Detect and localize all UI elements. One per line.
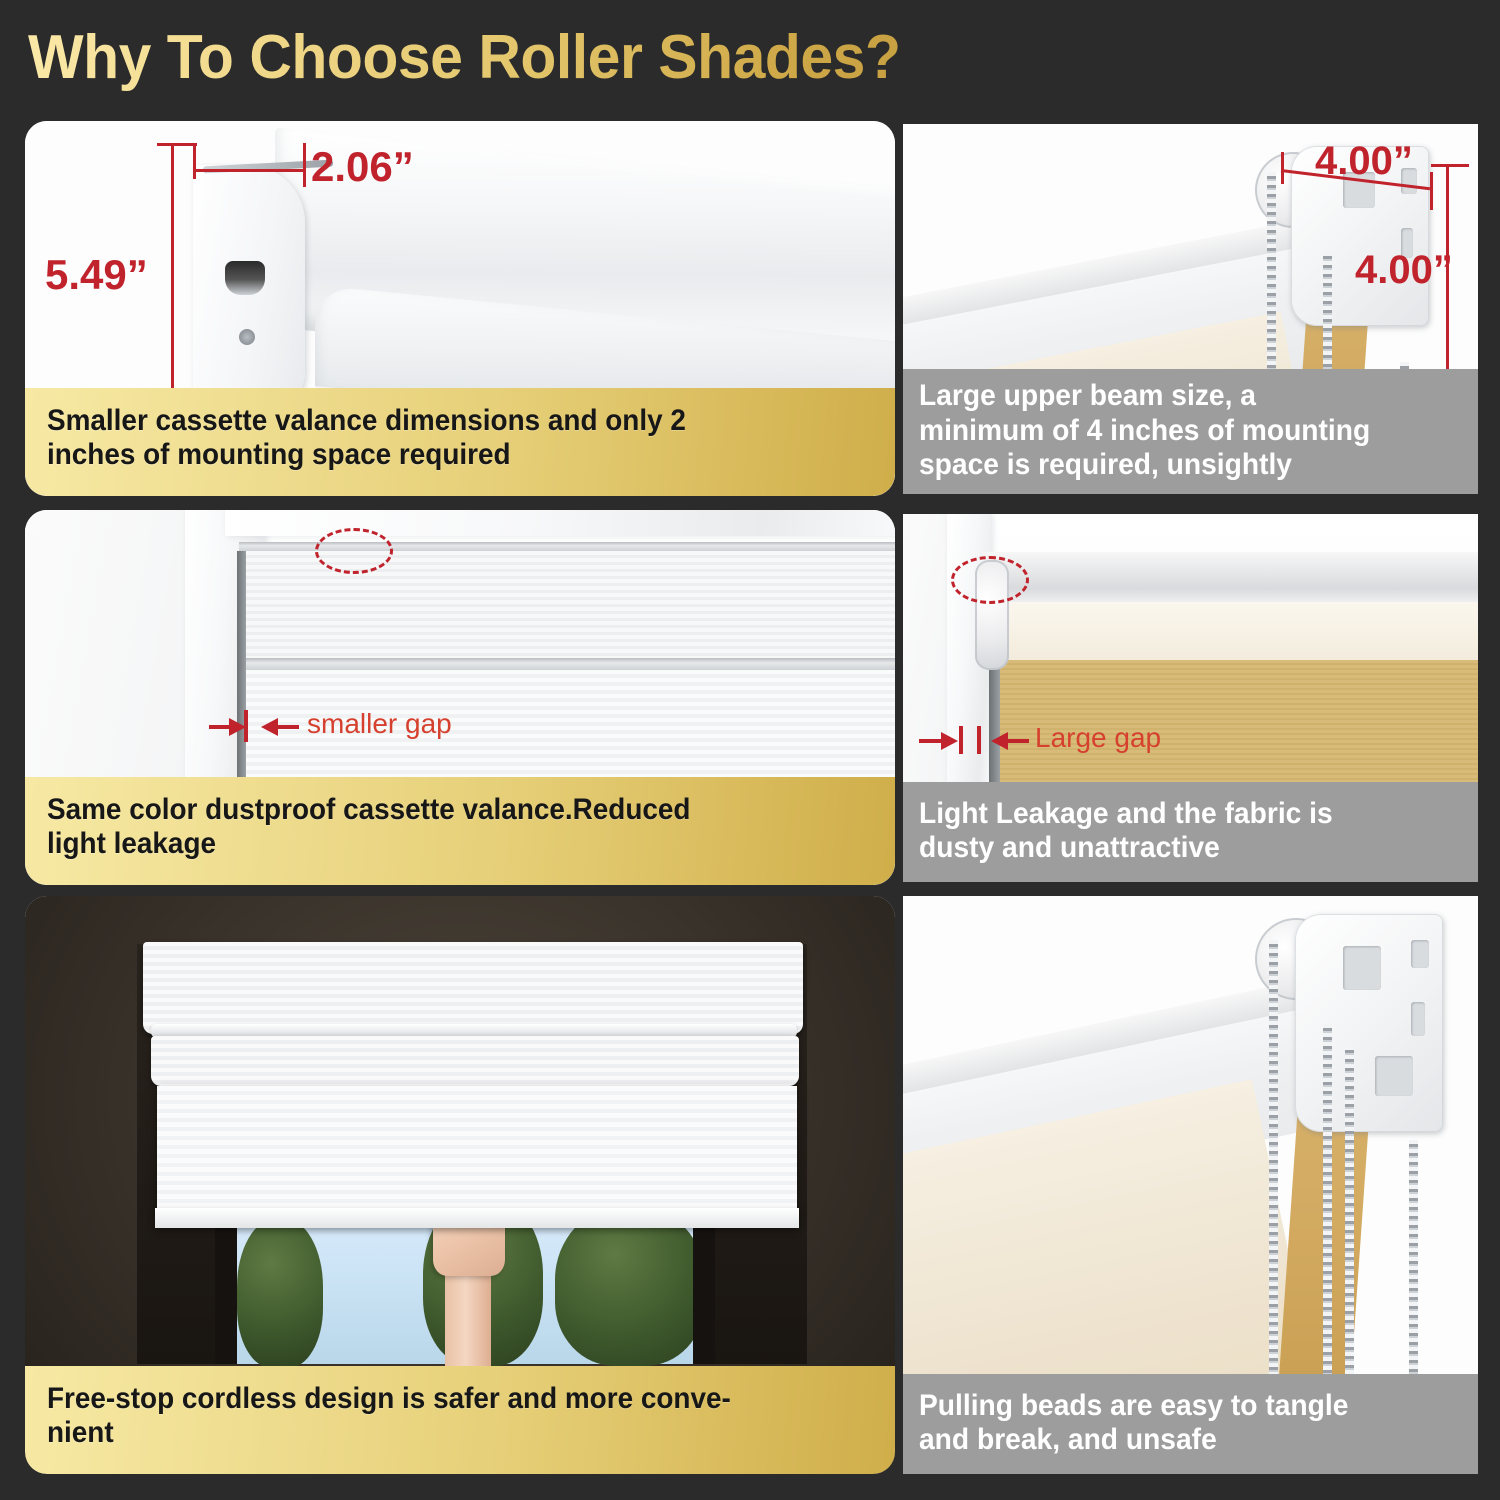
bracket-slot-1: [1411, 940, 1429, 968]
window-frame-head: [225, 510, 895, 536]
caption-line-1: Pulling beads are easy to tangle: [919, 1389, 1348, 1423]
panel-large-upper-beam: 4.00” 4.00” Large upper beam size, a min…: [903, 124, 1478, 494]
panel-smaller-cassette: 2.06” 5.49” Smaller cassette valance dim…: [25, 121, 895, 496]
caption-large-upper-beam: Large upper beam size, a minimum of 4 in…: [903, 369, 1478, 494]
panel-cordless-design: Free-stop cordless design is safer and m…: [25, 896, 895, 1474]
height-dimension-label: 5.49”: [45, 251, 148, 299]
caption-text: Smaller cassette valance dimensions and …: [47, 404, 686, 471]
caption-line-1: Same color dustproof cassette valance.Re…: [47, 793, 690, 827]
roller-tube: [983, 552, 1478, 604]
beam-width-dimension-label: 4.00”: [1315, 139, 1413, 184]
cassette-valance: [143, 942, 803, 1034]
caption-line-1: Smaller cassette valance dimensions and …: [47, 404, 686, 438]
caption-line-2: dusty and unattractive: [919, 831, 1333, 865]
caption-line-1: Light Leakage and the fabric is: [919, 797, 1333, 831]
bracket-slot-3: [1343, 946, 1381, 990]
smaller-gap-label: smaller gap: [307, 708, 452, 740]
panel-pulling-beads: Pulling beads are easy to tangle and bre…: [903, 896, 1478, 1474]
beam-height-dimension-label: 4.00”: [1355, 248, 1453, 293]
comparison-grid: 2.06” 5.49” Smaller cassette valance dim…: [0, 110, 1500, 1490]
caption-line-2: and break, and unsafe: [919, 1423, 1348, 1457]
caption-cordless-design: Free-stop cordless design is safer and m…: [25, 1366, 895, 1474]
large-gap-label: Large gap: [1035, 722, 1161, 754]
roller-shade-fabric: [157, 1086, 797, 1214]
caption-text: Large upper beam size, a minimum of 4 in…: [919, 379, 1370, 482]
caption-dustproof-cassette: Same color dustproof cassette valance.Re…: [25, 777, 895, 885]
bracket-slot-4: [1375, 1056, 1413, 1096]
shade-side-edge: [237, 551, 246, 790]
cream-fabric-top: [999, 602, 1478, 660]
caption-light-leakage: Light Leakage and the fabric is dusty an…: [903, 782, 1478, 882]
caption-text: Pulling beads are easy to tangle and bre…: [919, 1389, 1348, 1457]
caption-line-2: nient: [47, 1416, 731, 1450]
hem-bar: [155, 1208, 799, 1228]
width-dimension-label: 2.06”: [311, 143, 414, 191]
caption-line-2: inches of mounting space required: [47, 438, 686, 472]
panel-dustproof-cassette: smaller gap Same color dustproof cassett…: [25, 510, 895, 885]
valance-lower-roll: [151, 1036, 799, 1086]
caption-text: Free-stop cordless design is safer and m…: [47, 1382, 731, 1449]
bracket-slot-2: [1411, 1002, 1425, 1036]
bracket-slot: [225, 261, 265, 295]
page-title: Why To Choose Roller Shades?: [28, 16, 1073, 100]
tree-left: [237, 1218, 323, 1368]
bead-chain-1: [1269, 940, 1278, 1448]
caption-line-3: space is required, unsightly: [919, 448, 1370, 482]
caption-pulling-beads: Pulling beads are easy to tangle and bre…: [903, 1374, 1478, 1474]
caption-smaller-cassette: Smaller cassette valance dimensions and …: [25, 388, 895, 496]
caption-line-2: light leakage: [47, 827, 690, 861]
caption-line-2: minimum of 4 inches of mounting: [919, 414, 1370, 448]
caption-line-1: Large upper beam size, a: [919, 379, 1370, 413]
caption-text: Same color dustproof cassette valance.Re…: [47, 793, 690, 860]
screw-upper: [239, 329, 255, 345]
title-bar: Why To Choose Roller Shades?: [28, 16, 1128, 100]
caption-line-1: Free-stop cordless design is safer and m…: [47, 1382, 731, 1416]
caption-text: Light Leakage and the fabric is dusty an…: [919, 797, 1333, 865]
highlight-ellipse: [315, 528, 393, 574]
highlight-ellipse: [951, 556, 1029, 604]
tree-right: [555, 1206, 705, 1366]
panel-light-leakage: Large gap Light Leakage and the fabric i…: [903, 514, 1478, 882]
valance-bottom-lip: [241, 658, 895, 670]
